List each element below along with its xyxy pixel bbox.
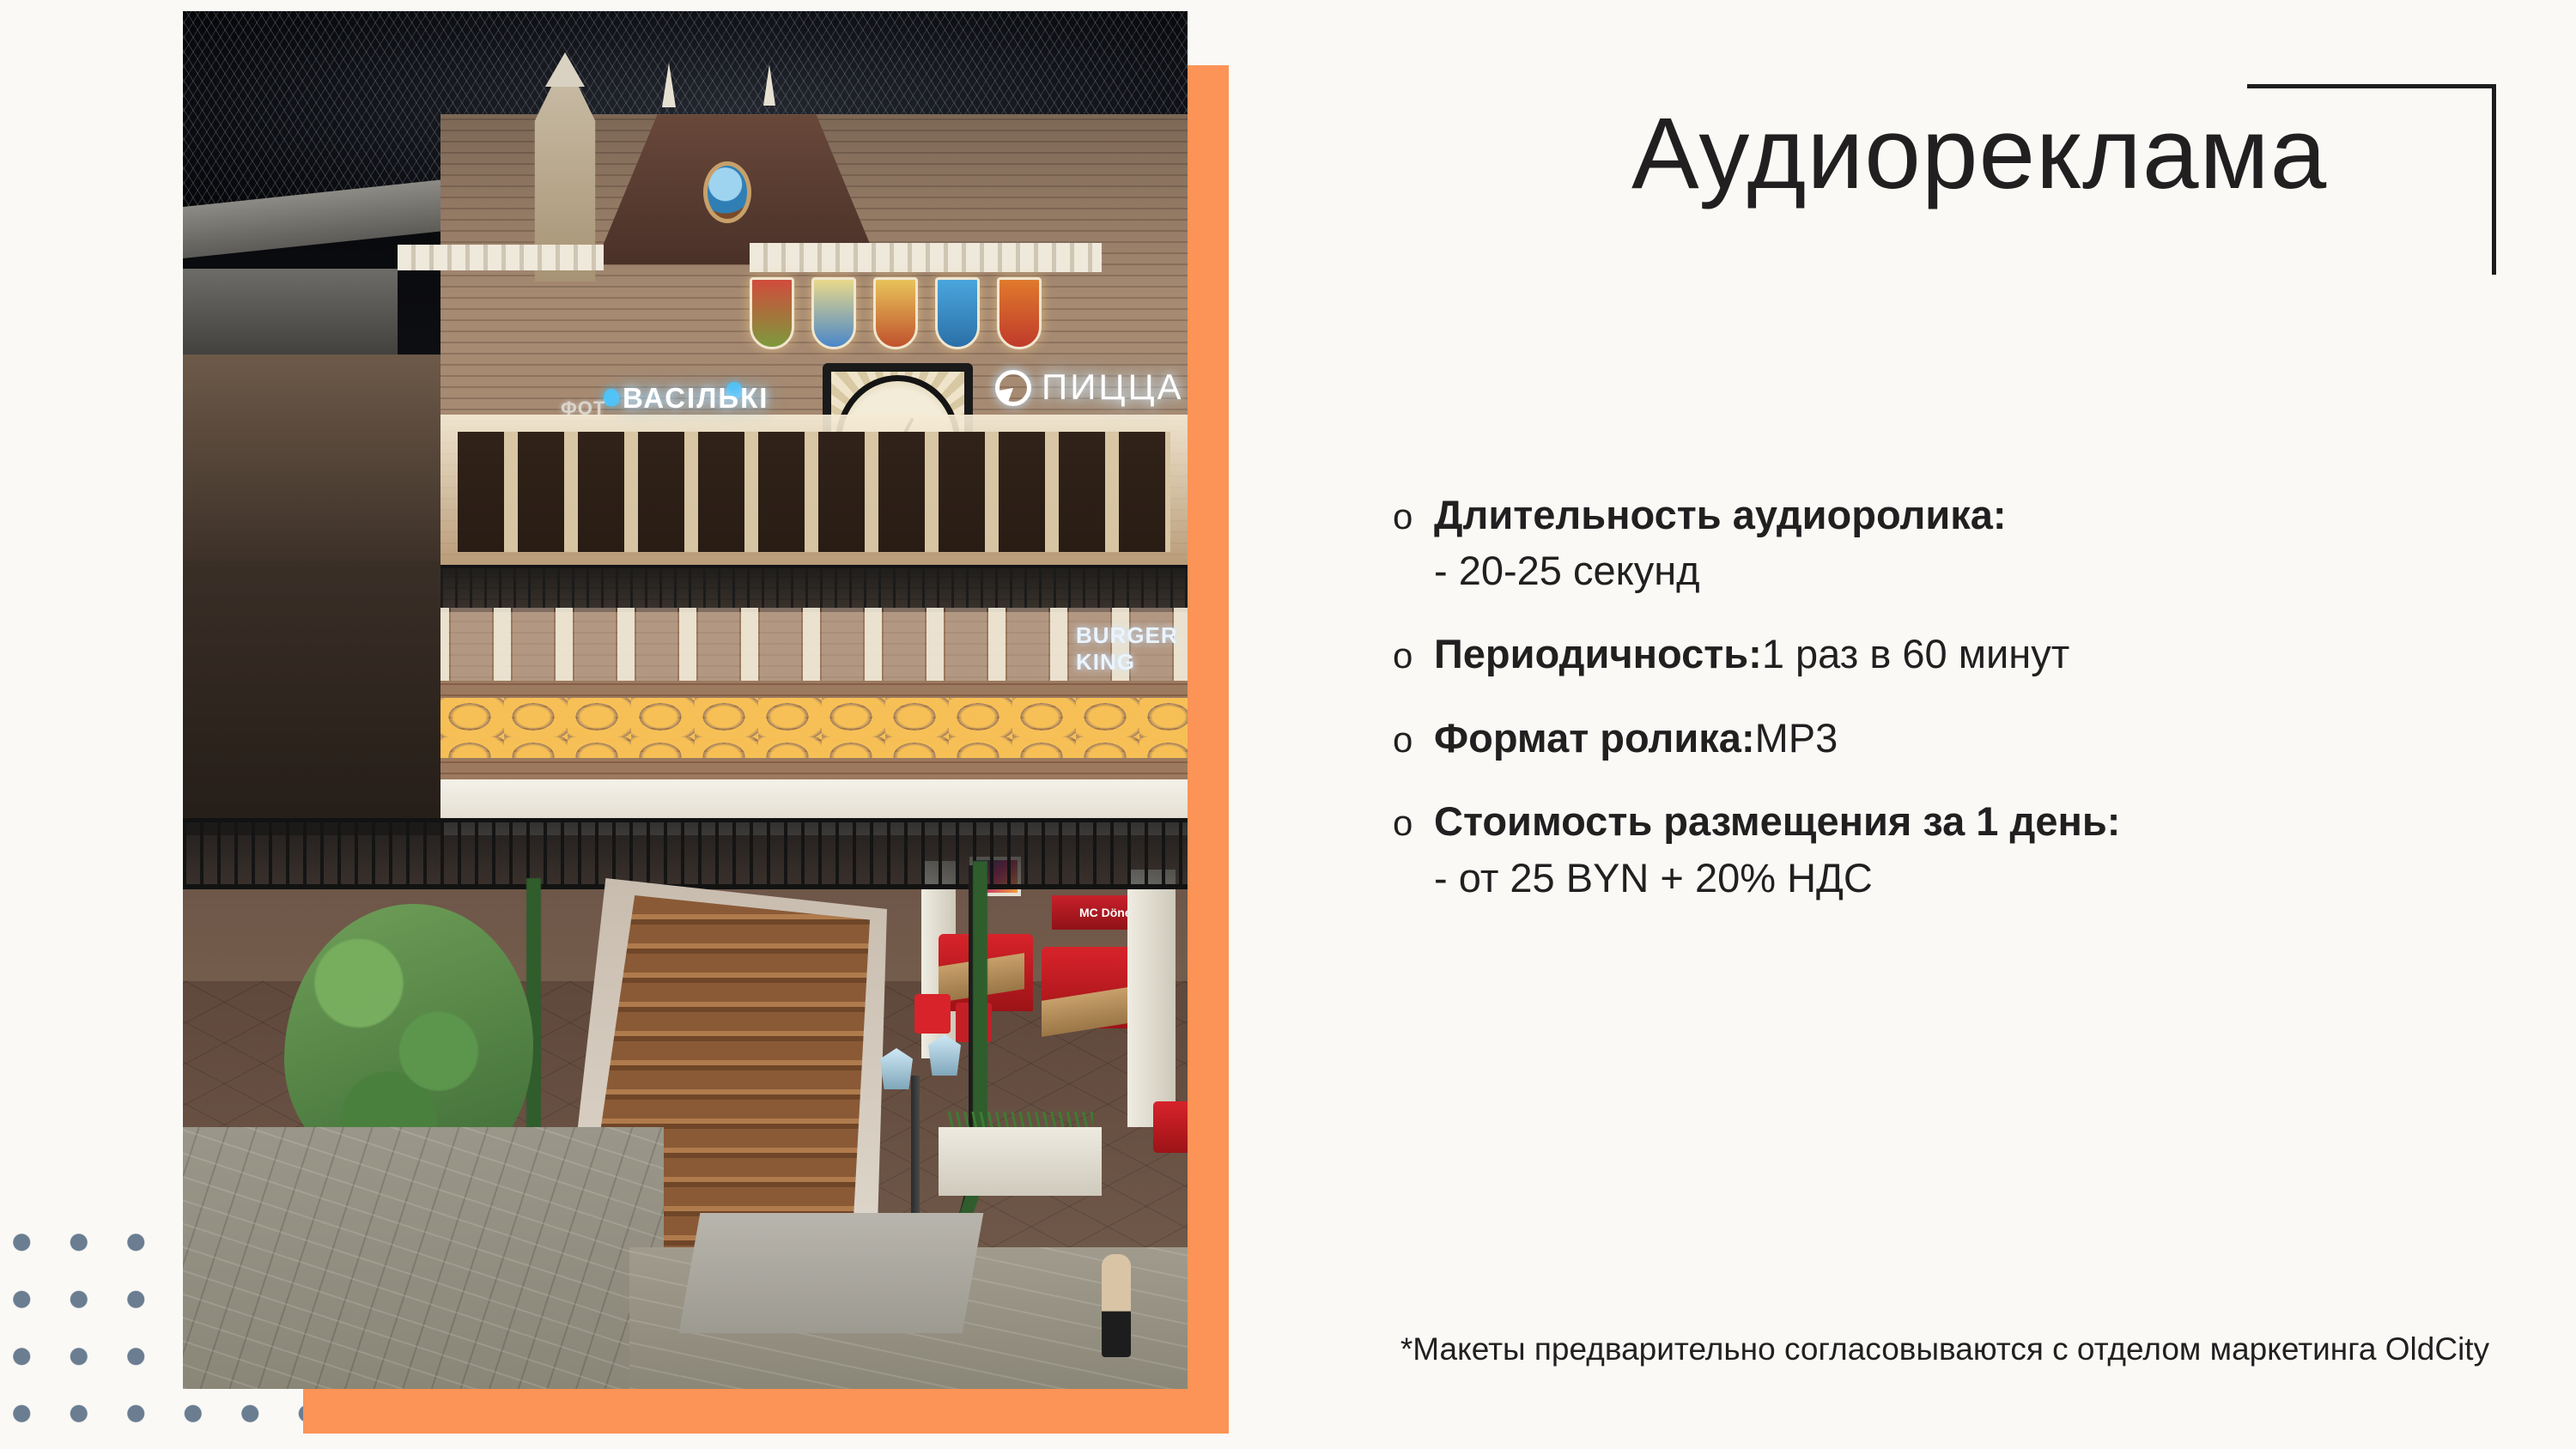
heraldic-shields-row — [750, 277, 1093, 349]
shield-4 — [935, 277, 980, 349]
bullet-label: Периодичность: — [1434, 630, 1762, 677]
wall-uplights — [440, 698, 1188, 758]
shield-5 — [997, 277, 1042, 349]
sign-burger-king: BURGER KING — [1076, 622, 1188, 676]
bullet-line: o Периодичность: 1 раз в 60 минут — [1393, 630, 2509, 677]
list-item: o Формат ролика: MP3 — [1393, 714, 2509, 761]
sign-vasilki: ВАСІЛЬКІ — [623, 382, 769, 415]
bullet-subline: - 20-25 секунд — [1434, 547, 2509, 594]
list-item: o Стоимость размещения за 1 день: - от 2… — [1393, 797, 2509, 900]
shield-1 — [750, 277, 794, 349]
specs-list: o Длительность аудиоролика: - 20-25 секу… — [1393, 491, 2509, 937]
stone-paving-left — [183, 1127, 664, 1389]
person-walking — [1102, 1254, 1131, 1357]
bullet-marker-icon: o — [1393, 802, 1434, 845]
corner-bracket-horizontal — [2247, 84, 2496, 88]
sign-pizza: ПИЦЦА — [1042, 367, 1184, 408]
list-item: o Длительность аудиоролика: - 20-25 секу… — [1393, 491, 2509, 594]
bullet-marker-icon: o — [1393, 634, 1434, 677]
grass-planter-box — [939, 1127, 1102, 1196]
left-shopfronts-lower — [183, 561, 458, 844]
shield-3 — [873, 277, 918, 349]
corner-bracket-vertical — [2492, 84, 2496, 275]
pillar-right — [1127, 870, 1176, 1127]
slide-canvas: ВАСІЛЬКІ ФОТ ПИЦЦА BURGER KING BURGER KI… — [0, 0, 2576, 1449]
left-shopfronts-upper — [183, 355, 458, 569]
pizza-slice-icon — [995, 370, 1031, 406]
bullet-marker-icon: o — [1393, 495, 1434, 538]
bullet-marker-icon: o — [1393, 718, 1434, 761]
granite-step-slab — [679, 1213, 984, 1333]
mall-interior-photo: ВАСІЛЬКІ ФОТ ПИЦЦА BURGER KING BURGER KI… — [183, 11, 1188, 1389]
bullet-label: Формат ролика: — [1434, 714, 1755, 761]
bullet-value: 1 раз в 60 минут — [1762, 630, 2069, 677]
bullet-line: o Длительность аудиоролика: — [1393, 491, 2509, 538]
red-booth-4 — [1153, 1101, 1188, 1153]
bullet-label: Стоимость размещения за 1 день: — [1434, 797, 2120, 845]
bullet-value: MP3 — [1755, 714, 1838, 761]
bullet-subline: - от 25 BYN + 20% НДС — [1434, 854, 2509, 901]
bullet-label: Длительность аудиоролика: — [1434, 491, 2007, 538]
heraldic-medallion — [703, 161, 751, 223]
sign-fot: ФОТ — [561, 397, 605, 420]
parapet-balustrade-right — [750, 243, 1102, 272]
bullet-line: o Формат ролика: MP3 — [1393, 714, 2509, 761]
cornflower-icon-left — [604, 389, 619, 406]
parapet-balustrade-left — [398, 245, 604, 270]
footnote: *Макеты предварительно согласовываются с… — [1374, 1329, 2516, 1371]
gallery-interior — [458, 432, 1170, 552]
shield-2 — [811, 277, 856, 349]
second-floor-railing — [440, 565, 1188, 612]
list-item: o Периодичность: 1 раз в 60 минут — [1393, 630, 2509, 677]
bullet-line: o Стоимость размещения за 1 день: — [1393, 797, 2509, 845]
page-title: Аудиореклама — [1631, 96, 2482, 213]
